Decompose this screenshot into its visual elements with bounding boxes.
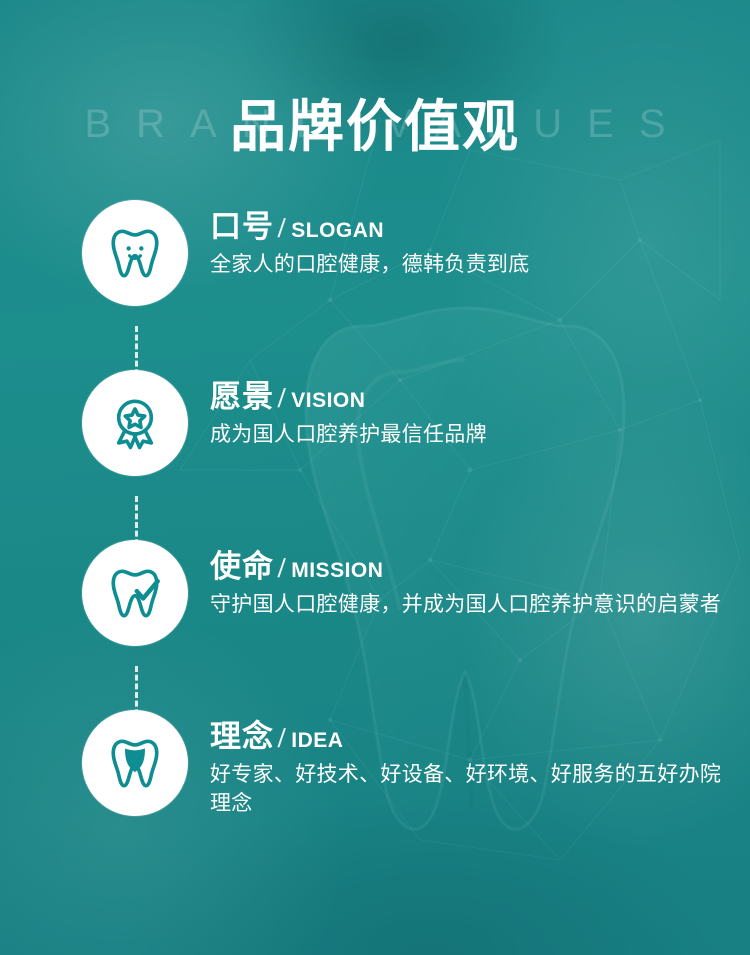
award-medal-icon — [106, 394, 164, 452]
list-item-label-cn: 愿景 — [210, 380, 274, 414]
list-item-text: 愿景 / VISION 成为国人口腔养护最信任品牌 — [188, 370, 750, 449]
list-item-label-en: MISSION — [291, 559, 383, 583]
list-item-heading: 口号 / SLOGAN — [210, 210, 750, 244]
list-item-description: 守护国人口腔健康，并成为国人口腔养护意识的启蒙者 — [210, 590, 730, 619]
list-item-heading: 愿景 / VISION — [210, 380, 750, 414]
list-item-label-en: VISION — [291, 389, 365, 413]
smiling-tooth-icon — [106, 224, 164, 282]
label-separator: / — [277, 723, 286, 754]
list-item-label-en: IDEA — [291, 729, 343, 753]
list-item-label-cn: 理念 — [210, 720, 274, 754]
list-item[interactable]: 口号 / SLOGAN 全家人的口腔健康，德韩负责到底 — [0, 200, 750, 370]
list-item-label-cn: 使命 — [210, 550, 274, 584]
poster-header: BRAND VALUES 品牌价值观 — [0, 92, 750, 182]
brand-values-poster: BRAND VALUES 品牌价值观 口号 / — [0, 0, 750, 955]
list-item-label-en: SLOGAN — [291, 219, 384, 243]
label-separator: / — [277, 553, 286, 584]
tooth-check-icon — [106, 564, 164, 622]
list-item-label-cn: 口号 — [210, 210, 274, 244]
list-item-text: 使命 / MISSION 守护国人口腔健康，并成为国人口腔养护意识的启蒙者 — [188, 540, 750, 619]
tooth-shield-icon — [106, 734, 164, 792]
label-separator: / — [277, 383, 286, 414]
list-item-text: 理念 / IDEA 好专家、好技术、好设备、好环境、好服务的五好办院理念 — [188, 710, 750, 818]
icon-badge-mission — [82, 540, 188, 646]
list-item-description: 全家人的口腔健康，德韩负责到底 — [210, 250, 730, 279]
value-list: 口号 / SLOGAN 全家人的口腔健康，德韩负责到底 — [0, 200, 750, 818]
list-item[interactable]: 愿景 / VISION 成为国人口腔养护最信任品牌 — [0, 370, 750, 540]
list-item[interactable]: 理念 / IDEA 好专家、好技术、好设备、好环境、好服务的五好办院理念 — [0, 710, 750, 818]
list-item-description: 好专家、好技术、好设备、好环境、好服务的五好办院理念 — [210, 760, 730, 818]
list-item-heading: 使命 / MISSION — [210, 550, 750, 584]
list-item-heading: 理念 / IDEA — [210, 720, 750, 754]
icon-badge-idea — [82, 710, 188, 816]
page-title: 品牌价值观 — [0, 92, 750, 162]
list-item-text: 口号 / SLOGAN 全家人的口腔健康，德韩负责到底 — [188, 200, 750, 279]
label-separator: / — [277, 213, 286, 244]
icon-badge-slogan — [82, 200, 188, 306]
list-item-description: 成为国人口腔养护最信任品牌 — [210, 420, 730, 449]
icon-badge-vision — [82, 370, 188, 476]
list-item[interactable]: 使命 / MISSION 守护国人口腔健康，并成为国人口腔养护意识的启蒙者 — [0, 540, 750, 710]
